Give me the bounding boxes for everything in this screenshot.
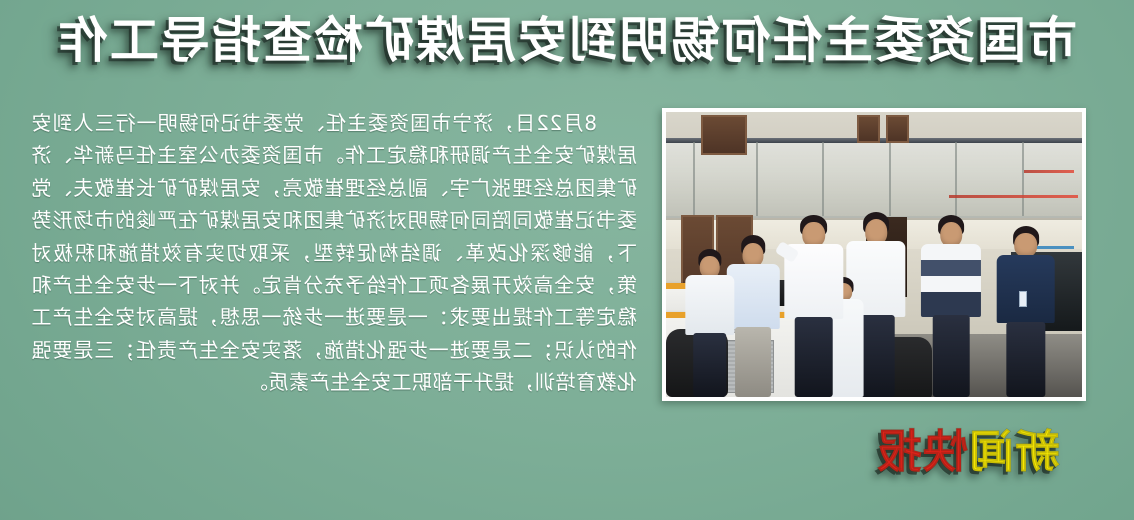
bulletin-logo-part-1: 新闻 <box>968 425 1060 478</box>
bulletin-logo-part-2: 快报 <box>876 425 968 478</box>
article-paragraph: 8月22日，济宁市国资委主任、党委书记何锡明一行三人到安居煤矿安全生产调研和稳定… <box>31 107 637 399</box>
bulletin-logo: 新闻快报 <box>876 424 1060 480</box>
photo-glass-post <box>889 142 891 216</box>
photo-glass-post <box>822 142 824 216</box>
photo-red-light-strip <box>1024 170 1074 173</box>
photo-glass-post <box>955 142 957 216</box>
photo-person <box>920 215 982 397</box>
photo-glass-post <box>693 142 695 216</box>
photo-glass-post <box>756 142 758 216</box>
photo-person <box>683 249 737 397</box>
page-title: 市国资委主任何锡明到安居煤矿检查指导工作 <box>0 8 1134 74</box>
photo-upper-door <box>701 115 747 155</box>
news-photo <box>666 112 1082 397</box>
photo-person-pointing <box>783 215 845 397</box>
photo-glass-post <box>1022 142 1024 216</box>
news-photo-frame <box>662 108 1086 401</box>
photo-upper-door <box>857 115 880 144</box>
photo-red-light-strip <box>949 195 1078 198</box>
photo-upper-door <box>887 115 910 144</box>
photo-person <box>995 226 1057 397</box>
news-bulletin-page: 市国资委主任何锡明到安居煤矿检查指导工作 <box>0 0 1134 520</box>
article-body: 8月22日，济宁市国资委主任、党委书记何锡明一行三人到安居煤矿安全生产调研和稳定… <box>31 107 637 399</box>
